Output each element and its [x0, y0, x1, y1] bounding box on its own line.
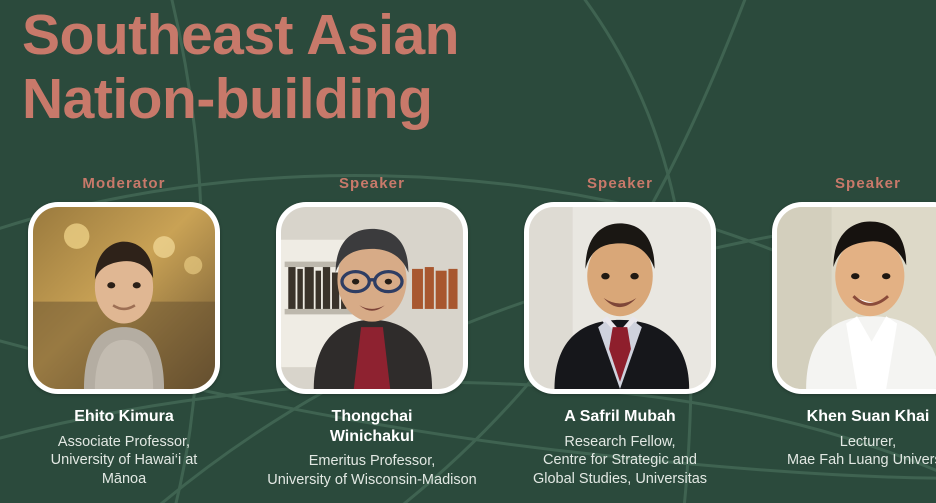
avatar	[777, 207, 936, 389]
role-label: Moderator	[82, 176, 165, 191]
avatar-frame	[276, 202, 468, 394]
person-card-speaker-2: Speaker	[496, 176, 744, 503]
portrait-thongchai-winichakul-icon	[281, 207, 463, 389]
person-affiliation: Lecturer, Mae Fah Luang Universit	[787, 433, 936, 470]
role-label: Speaker	[339, 176, 405, 191]
avatar	[33, 207, 215, 389]
person-affiliation: Research Fellow, Centre for Strategic an…	[533, 433, 707, 489]
person-name: Ehito Kimura	[74, 407, 174, 427]
portrait-a-safril-mubah-icon	[529, 207, 711, 389]
avatar-frame	[772, 202, 936, 394]
avatar-frame	[28, 202, 220, 394]
person-affiliation: Associate Professor, University of Hawai…	[51, 433, 198, 489]
speakers-row: Moderator	[0, 176, 936, 503]
person-affiliation: Emeritus Professor, University of Wiscon…	[267, 452, 477, 489]
person-card-speaker-1: Speaker	[248, 176, 496, 503]
portrait-ehito-kimura-icon	[33, 207, 215, 389]
role-label: Speaker	[587, 176, 653, 191]
person-name: Khen Suan Khai	[807, 407, 930, 427]
event-poster: Southeast Asian Nation-building Moderato…	[0, 0, 936, 503]
avatar-frame	[524, 202, 716, 394]
avatar	[529, 207, 711, 389]
title-line-1: Southeast Asian	[22, 4, 622, 68]
person-card-moderator: Moderator	[0, 176, 248, 503]
person-card-speaker-3: Speaker Kh	[744, 176, 936, 503]
page-title: Southeast Asian Nation-building	[22, 4, 622, 132]
portrait-khen-suan-khai-icon	[777, 207, 936, 389]
title-line-2: Nation-building	[22, 68, 622, 132]
person-name: Thongchai Winichakul	[330, 407, 414, 446]
role-label: Speaker	[835, 176, 901, 191]
person-name: A Safril Mubah	[564, 407, 675, 427]
avatar	[281, 207, 463, 389]
